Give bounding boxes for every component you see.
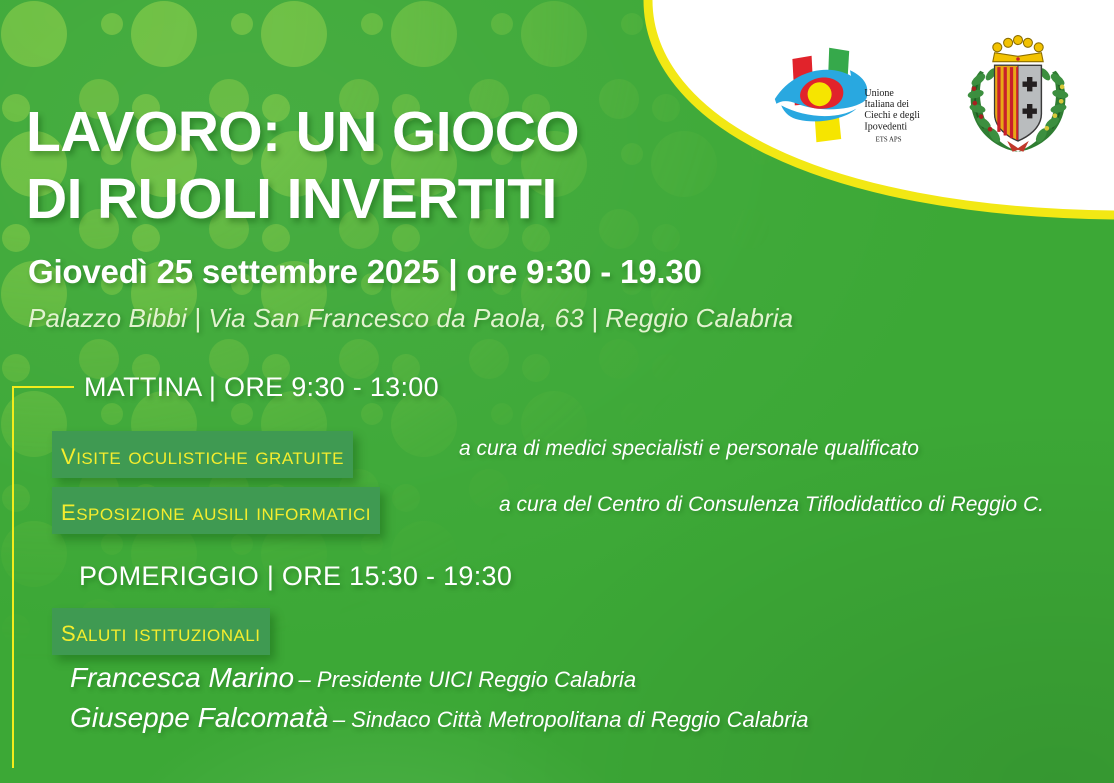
- reggio-calabria-coat-of-arms-icon: [964, 25, 1072, 165]
- program-item-saluti-istituzionali: Saluti istituzionali: [52, 608, 270, 655]
- program-note-esposizione-ausili: a cura del Centro di Consulenza Tiflodid…: [499, 493, 1044, 517]
- uici-logo-line-3: Ipovedenti: [864, 121, 907, 132]
- session-heading-afternoon: POMERIGGIO | ORE 15:30 - 19:30: [79, 561, 512, 592]
- program-note-visite-oculistiche: a cura di medici specialisti e personale…: [459, 437, 919, 461]
- page-title: LAVORO: UN GIOCO DI RUOLI INVERTITI: [26, 99, 666, 232]
- speaker-role: – Sindaco Città Metropolitana di Reggio …: [333, 707, 809, 732]
- speaker-name: Giuseppe Falcomatà: [70, 702, 328, 733]
- uici-logo-line-0: Unione: [864, 87, 894, 98]
- event-venue: Palazzo Bibbi | Via San Francesco da Pao…: [28, 303, 793, 334]
- program-item-esposizione-ausili: Esposizione ausili informatici: [52, 487, 380, 534]
- speaker-role: – Presidente UICI Reggio Calabria: [299, 667, 637, 692]
- speaker-name: Francesca Marino: [70, 662, 294, 693]
- uici-logo-line-2: Ciechi e degli: [864, 110, 920, 121]
- program-item-visite-oculistiche: Visite oculistiche gratuite: [52, 431, 353, 478]
- uici-logo: Unione Italiana dei Ciechi e degli Ipove…: [770, 30, 930, 160]
- session-heading-morning: MATTINA | ORE 9:30 - 13:00: [84, 372, 439, 403]
- event-datetime: Giovedì 25 settembre 2025 | ore 9:30 - 1…: [28, 253, 702, 291]
- speaker-row: Giuseppe Falcomatà – Sindaco Città Metro…: [70, 702, 809, 734]
- uici-logo-subtitle: ETS APS: [876, 136, 902, 143]
- speaker-row: Francesca Marino – Presidente UICI Reggi…: [70, 662, 636, 694]
- logo-group: Unione Italiana dei Ciechi e degli Ipove…: [770, 22, 1100, 167]
- event-poster: Unione Italiana dei Ciechi e degli Ipove…: [0, 0, 1114, 783]
- uici-logo-line-1: Italiana dei: [864, 99, 909, 110]
